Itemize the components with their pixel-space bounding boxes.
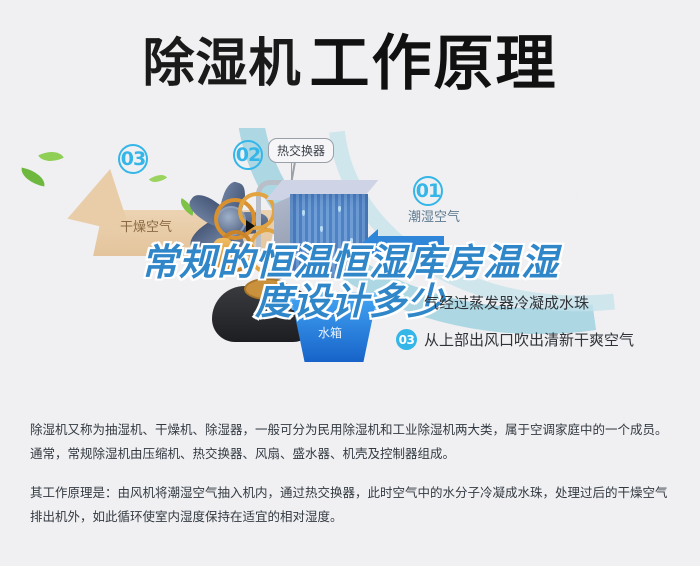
leaf-icon: [19, 167, 47, 186]
diagram-number-01: 01: [413, 176, 443, 206]
compressor-cap: [244, 278, 290, 300]
humid-air-label: 潮湿空气: [408, 206, 460, 225]
water-droplet-icon: [350, 238, 353, 244]
heat-exchanger-fins: [290, 194, 368, 278]
water-droplet-icon: [338, 206, 341, 212]
body-paragraph-1: 除湿机又称为抽湿机、干燥机、除湿器，一般可分为民用除湿机和工业除湿机两大类，属于…: [30, 418, 678, 467]
page-title-part1: 除湿机: [142, 38, 301, 90]
step-text: 从上部出风口吹出清新干爽空气: [424, 329, 634, 350]
infographic-page: 除湿机 工作原理 干燥空气 03: [0, 0, 700, 566]
process-step-03: 03 从上部出风口吹出清新干爽空气: [396, 329, 696, 350]
water-tank-label: 水箱: [318, 324, 342, 341]
body-paragraph-2: 其工作原理是：由风机将潮湿空气抽入机内，通过热交换器，此时空气中的水分子冷凝成水…: [30, 481, 678, 530]
page-title-part2: 工作原理: [310, 34, 558, 94]
heat-exchanger-callout: 热交换器: [268, 138, 334, 163]
water-droplet-icon: [312, 246, 315, 252]
step-text: 气经过蒸发器冷凝成水珠: [424, 292, 589, 313]
flow-arrow-right-icon: [246, 220, 255, 232]
process-step-02: 02 气经过蒸发器冷凝成水珠: [396, 292, 696, 313]
water-droplet-icon: [330, 258, 333, 264]
heat-exchanger-unit: [268, 180, 376, 280]
coil-bulb: [212, 238, 234, 268]
humid-air-inflow-arrow-icon: [378, 236, 444, 252]
page-title: 除湿机 工作原理: [0, 0, 700, 128]
dehumidifier-diagram: 干燥空气 03 02 热交换器: [0, 128, 700, 408]
diagram-number-02: 02: [233, 140, 263, 170]
diagram-number-03: 03: [118, 144, 148, 174]
water-tank: 水箱: [288, 300, 380, 368]
step-badge: 03: [396, 329, 417, 350]
flow-arrow-up-icon: [232, 246, 244, 255]
process-steps: 02 气经过蒸发器冷凝成水珠 03 从上部出风口吹出清新干爽空气: [396, 292, 696, 366]
body-copy: 除湿机又称为抽湿机、干燥机、除湿器，一般可分为民用除湿机和工业除湿机两大类，属于…: [30, 418, 678, 544]
water-droplet-icon: [302, 210, 305, 216]
dry-air-label: 干燥空气: [120, 216, 172, 235]
water-droplet-icon: [320, 226, 323, 232]
